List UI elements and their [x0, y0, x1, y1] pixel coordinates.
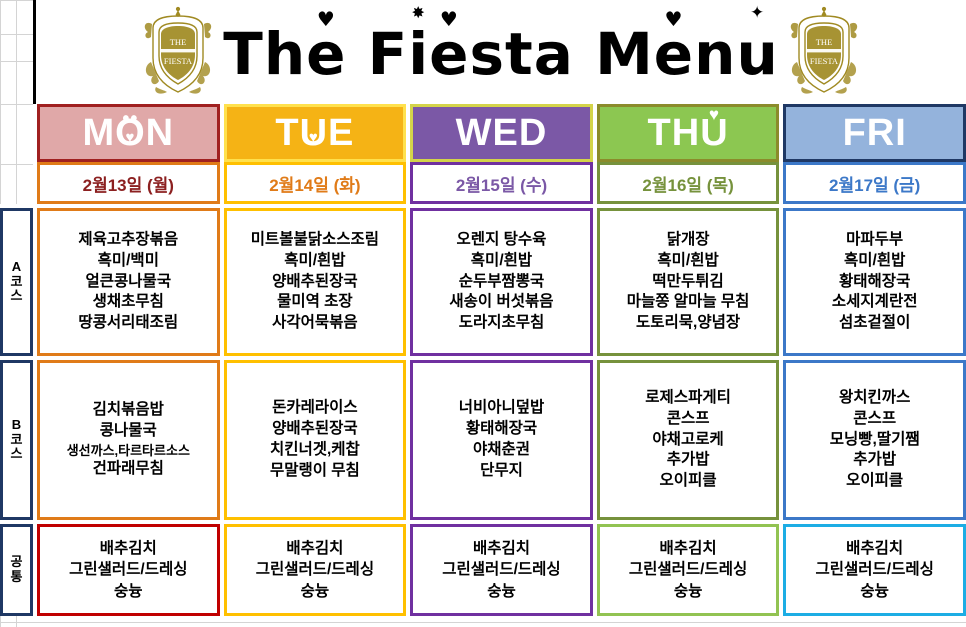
day-letter: M	[82, 114, 115, 152]
menu-cell-b-wed: 너비아니덮밥황태해장국야채춘권단무지	[410, 360, 593, 520]
page-title: The♥ Fi✸e♥sta Me♥nu✦	[223, 25, 778, 83]
menu-item: 양배추된장국	[229, 419, 402, 440]
menu-cell-common-tue: 배추김치그린샐러드/드레싱숭늉	[224, 524, 407, 616]
heart-accent-icon: ♥	[125, 130, 135, 145]
menu-item: 흑미/백미	[42, 251, 215, 272]
day-letter: T	[648, 114, 672, 152]
menu-item: 흑미/흰밥	[415, 251, 588, 272]
menu-item: 얼큰콩나물국	[42, 272, 215, 293]
grid-line	[0, 622, 966, 623]
crest-label-bottom: FIESTA	[164, 56, 193, 66]
paw-dots-icon: ••	[122, 109, 138, 129]
day-letter: T	[275, 114, 299, 152]
menu-cell-common-wed: 배추김치그린샐러드/드레싱숭늉	[410, 524, 593, 616]
day-header-thu: THU♥	[597, 104, 780, 162]
menu-item: 생채초무침	[42, 292, 215, 313]
menu-cell-a-mon: 제육고추장볶음흑미/백미얼큰콩나물국생채초무침땅콩서리태조림	[37, 208, 220, 356]
menu-item: 그린샐러드/드레싱	[415, 559, 588, 580]
menu-item: 단무지	[415, 461, 588, 482]
date-cell-tue: 2월14일 (화)	[224, 162, 407, 204]
row-label-course-a-char: A	[3, 260, 30, 275]
day-header-tue: TU♥E	[224, 104, 407, 162]
day-letter: N	[146, 114, 174, 152]
menu-item: 생선까스,타르타르소스	[42, 442, 215, 459]
menu-item: 모닝빵,딸기쨈	[788, 430, 961, 451]
menu-item: 양배추된장국	[229, 272, 402, 293]
day-header-row: MO♥••N TU♥E WED THU♥ FRI	[0, 104, 966, 162]
day-letter: D	[519, 114, 547, 152]
menu-item: 흑미/흰밥	[788, 251, 961, 272]
grid-line	[0, 34, 33, 35]
menu-item: 추가밥	[602, 450, 775, 471]
menu-cell-common-mon: 배추김치그린샐러드/드레싱숭늉	[37, 524, 220, 616]
menu-item: 황태해장국	[415, 419, 588, 440]
course-a-row: A코스 제육고추장볶음흑미/백미얼큰콩나물국생채초무침땅콩서리태조림 미트볼불닭…	[0, 208, 966, 356]
menu-cell-b-tue: 돈카레라이스양배추된장국치킨너겟,케찹무말랭이 무침	[224, 360, 407, 520]
menu-cell-a-fri: 마파두부흑미/흰밥황태해장국소세지계란전섬초겉절이	[783, 208, 966, 356]
day-header-wed: WED	[410, 104, 593, 162]
day-letter: F	[843, 114, 867, 152]
course-b-row: B코스 김치볶음밥콩나물국생선까스,타르타르소스건파래무침 돈카레라이스양배추된…	[0, 360, 966, 520]
menu-item: 배추김치	[229, 538, 402, 559]
menu-item: 너비아니덮밥	[415, 398, 588, 419]
menu-item: 배추김치	[415, 538, 588, 559]
day-header-fri: FRI	[783, 104, 966, 162]
date-cell-fri: 2월17일 (금)	[783, 162, 966, 204]
row-label-course-b-char: B	[3, 418, 30, 433]
menu-cell-common-thu: 배추김치그린샐러드/드레싱숭늉	[597, 524, 780, 616]
day-letter: E	[493, 114, 519, 152]
menu-cell-b-fri: 왕치킨까스콘스프모닝빵,딸기쨈추가밥오이피클	[783, 360, 966, 520]
date-cell-thu: 2월16일 (목)	[597, 162, 780, 204]
day-letter: E	[328, 114, 354, 152]
row-label-common-char: 통	[3, 570, 30, 585]
day-letter: O♥••	[115, 114, 146, 152]
menu-item: 콘스프	[602, 409, 775, 430]
menu-item: 야채고로케	[602, 430, 775, 451]
menu-cell-b-thu: 로제스파게티콘스프야채고로케추가밥오이피클	[597, 360, 780, 520]
row-label-common-char: 공	[3, 555, 30, 570]
menu-item: 소세지계란전	[788, 292, 961, 313]
menu-item: 섬초겉절이	[788, 313, 961, 334]
menu-item: 배추김치	[42, 538, 215, 559]
crest-label-top: THE	[170, 37, 187, 47]
menu-item: 오이피클	[788, 471, 961, 492]
day-letter: I	[895, 114, 907, 152]
fiesta-crest-logo-left: THE FIESTA	[139, 6, 217, 98]
menu-item: 흑미/흰밥	[229, 251, 402, 272]
menu-item: 김치볶음밥	[42, 400, 215, 421]
day-letter: W	[456, 114, 493, 152]
date-row: 2월13일 (월) 2월14일 (화) 2월15일 (수) 2월16일 (목) …	[0, 162, 966, 204]
heart-accent-icon: ♥	[440, 9, 459, 29]
menu-item: 숭늉	[415, 581, 588, 602]
menu-item: 미트볼불닭소스조림	[229, 230, 402, 251]
menu-item: 콩나물국	[42, 421, 215, 442]
menu-item: 순두부짬뽕국	[415, 272, 588, 293]
menu-item: 무말랭이 무침	[229, 461, 402, 482]
menu-item: 그린샐러드/드레싱	[229, 559, 402, 580]
menu-item: 오이피클	[602, 471, 775, 492]
day-letter: U♥	[300, 114, 328, 152]
grid-line	[0, 0, 33, 1]
heart-accent-icon: ♥	[317, 9, 336, 29]
menu-item: 배추김치	[788, 538, 961, 559]
menu-item: 땅콩서리태조림	[42, 313, 215, 334]
menu-item: 흑미/흰밥	[602, 251, 775, 272]
menu-item: 추가밥	[788, 450, 961, 471]
menu-item: 떡만두튀김	[602, 272, 775, 293]
row-label-course-a-char: 코	[3, 275, 30, 290]
menu-item: 제육고추장볶음	[42, 230, 215, 251]
svg-text:FIESTA: FIESTA	[810, 56, 839, 66]
row-label-course-b: B코스	[0, 360, 33, 520]
day-letter: R	[867, 114, 895, 152]
menu-item: 마늘쫑 알마늘 무침	[602, 292, 775, 313]
menu-cell-common-fri: 배추김치그린샐러드/드레싱숭늉	[783, 524, 966, 616]
menu-item: 숭늉	[602, 581, 775, 602]
spreadsheet-canvas: THE FIESTA The♥ Fi✸e♥sta Me♥nu✦	[0, 0, 966, 627]
menu-item: 그린샐러드/드레싱	[42, 559, 215, 580]
menu-item: 숭늉	[229, 581, 402, 602]
grid-line	[0, 61, 33, 62]
menu-item: 건파래무침	[42, 459, 215, 480]
menu-item: 황태해장국	[788, 272, 961, 293]
day-header-mon: MO♥••N	[37, 104, 220, 162]
menu-item: 닭개장	[602, 230, 775, 251]
heart-accent-icon: ♥	[309, 130, 319, 145]
menu-title-banner: THE FIESTA The♥ Fi✸e♥sta Me♥nu✦	[33, 0, 966, 104]
star-accent-icon: ✦	[750, 5, 765, 22]
menu-item: 숭늉	[42, 581, 215, 602]
menu-item: 도토리묵,양념장	[602, 313, 775, 334]
menu-item: 배추김치	[602, 538, 775, 559]
svg-text:THE: THE	[815, 37, 832, 47]
row-label-course-a: A코스	[0, 208, 33, 356]
row-label-course-a-char: 스	[3, 289, 30, 304]
heart-accent-icon: ♥	[665, 9, 684, 29]
menu-item: 그린샐러드/드레싱	[788, 559, 961, 580]
menu-item: 도라지초무침	[415, 313, 588, 334]
day-letter: H	[672, 114, 700, 152]
menu-item: 사각어묵볶음	[229, 313, 402, 334]
row-label-course-b-char: 코	[3, 433, 30, 448]
menu-item: 콘스프	[788, 409, 961, 430]
row-label-common: 공통	[0, 524, 33, 616]
menu-item: 돈카레라이스	[229, 398, 402, 419]
menu-cell-a-wed: 오렌지 탕수육흑미/흰밥순두부짬뽕국새송이 버섯볶음도라지초무침	[410, 208, 593, 356]
menu-item: 마파두부	[788, 230, 961, 251]
menu-item: 물미역 초장	[229, 292, 402, 313]
menu-item: 숭늉	[788, 581, 961, 602]
menu-cell-b-mon: 김치볶음밥콩나물국생선까스,타르타르소스건파래무침	[37, 360, 220, 520]
fiesta-crest-logo-right: THE FIESTA	[785, 6, 863, 98]
menu-cell-a-tue: 미트볼불닭소스조림흑미/흰밥양배추된장국물미역 초장사각어묵볶음	[224, 208, 407, 356]
menu-item: 그린샐러드/드레싱	[602, 559, 775, 580]
menu-item: 치킨너겟,케찹	[229, 440, 402, 461]
date-cell-mon: 2월13일 (월)	[37, 162, 220, 204]
menu-item: 새송이 버섯볶음	[415, 292, 588, 313]
weekly-menu-table: MO♥••N TU♥E WED THU♥ FRI 2월13일 (월) 2월14일…	[0, 104, 966, 616]
date-cell-wed: 2월15일 (수)	[410, 162, 593, 204]
star-accent-icon: ✸	[412, 5, 426, 21]
menu-item: 로제스파게티	[602, 388, 775, 409]
menu-item: 야채춘권	[415, 440, 588, 461]
menu-item: 왕치킨까스	[788, 388, 961, 409]
day-letter: U♥	[700, 114, 728, 152]
common-row: 공통 배추김치그린샐러드/드레싱숭늉 배추김치그린샐러드/드레싱숭늉 배추김치그…	[0, 524, 966, 616]
menu-item: 오렌지 탕수육	[415, 230, 588, 251]
menu-cell-a-thu: 닭개장흑미/흰밥떡만두튀김마늘쫑 알마늘 무침도토리묵,양념장	[597, 208, 780, 356]
row-label-course-b-char: 스	[3, 447, 30, 462]
heart-accent-icon: ♥	[709, 106, 720, 123]
